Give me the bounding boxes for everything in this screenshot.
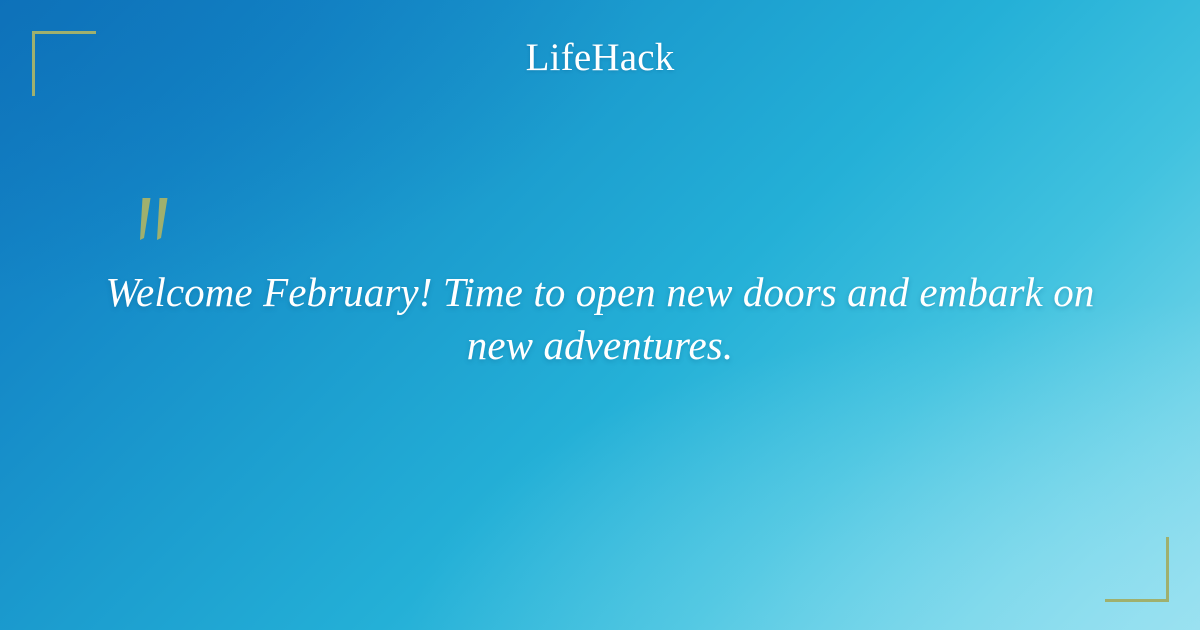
quote-line-2: new adventures.: [90, 319, 1110, 372]
corner-bracket-horizontal-line: [32, 31, 96, 34]
quote-line-1: Welcome February! Time to open new doors…: [90, 266, 1110, 319]
corner-bracket-vertical-line: [1166, 537, 1169, 601]
brand-name: LifeHack: [526, 38, 675, 77]
corner-bracket-bottom-right-icon: [1105, 537, 1169, 602]
card-content-layer: LifeHack Welcome February! Time to open …: [0, 0, 1200, 630]
corner-bracket-horizontal-line: [1105, 599, 1169, 602]
brand-logo: LifeHack: [0, 38, 1200, 77]
quote-block: Welcome February! Time to open new doors…: [90, 266, 1110, 372]
quote-mark-icon: [132, 196, 182, 248]
quote-card: LifeHack Welcome February! Time to open …: [0, 0, 1200, 630]
